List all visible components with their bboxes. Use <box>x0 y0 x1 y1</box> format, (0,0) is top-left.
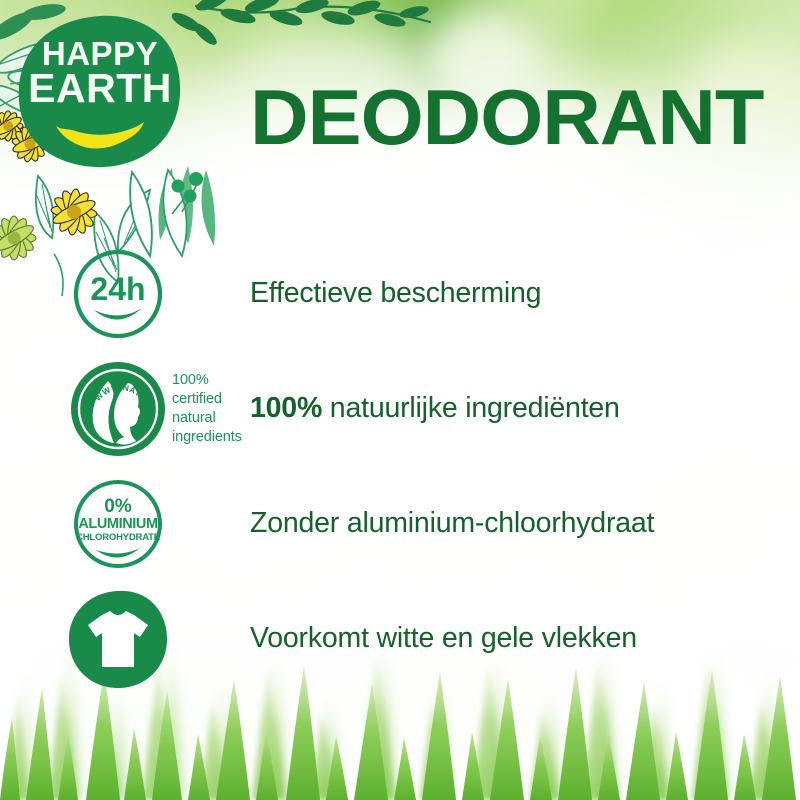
feature-row-natrue: WWW.NATRUE.ORG 100% certified natural in… <box>0 351 800 466</box>
24h-badge-label: 24h <box>90 271 145 307</box>
feature-lead: 100% <box>250 392 322 424</box>
feature-text-natural: 100% natuurlijke ingrediënten <box>250 392 620 425</box>
daisy-3 <box>50 188 97 235</box>
natrue-caption-line: natural <box>172 409 242 428</box>
aluminium-badge-line: CHLOROHYDRATE <box>76 532 160 543</box>
smile-icon <box>94 308 142 320</box>
feature-text-stains: Voorkomt witte en gele vlekken <box>250 622 637 655</box>
feature-row-aluminium: 0% ALUMINIUM CHLOROHYDRATE Zonder alumin… <box>0 466 800 581</box>
natrue-caption-line: 100% <box>172 370 242 389</box>
natrue-caption-line: ingredients <box>172 428 242 447</box>
feature-label: Effectieve bescherming <box>250 277 541 309</box>
product-feature-banner: HAPPY EARTH DEODORANT 24h Effectieve bes… <box>0 0 800 800</box>
natrue-caption-line: certified <box>172 389 242 408</box>
natrue-certification-badge: WWW.NATRUE.ORG <box>68 359 168 459</box>
24h-badge: 24h <box>68 244 168 344</box>
badge-cell: WWW.NATRUE.ORG 100% certified natural in… <box>0 351 250 466</box>
logo-text: HAPPY EARTH <box>14 12 186 172</box>
badge-cell <box>0 581 250 696</box>
smile-icon <box>96 548 140 558</box>
feature-list: 24h Effectieve bescherming <box>0 236 800 696</box>
happy-earth-logo[interactable]: HAPPY EARTH <box>14 12 186 172</box>
aluminium-badge-line: 0% <box>104 496 132 517</box>
natrue-caption: 100% certified natural ingredients <box>172 370 242 447</box>
logo-line-earth: EARTH <box>28 69 172 108</box>
zero-aluminium-badge: 0% ALUMINIUM CHLOROHYDRATE <box>68 474 168 574</box>
no-stains-tshirt-badge <box>68 589 168 689</box>
feature-label: Voorkomt witte en gele vlekken <box>250 622 637 654</box>
feature-text-aluminium: Zonder aluminium-chloorhydraat <box>250 507 654 540</box>
badge-cell: 0% ALUMINIUM CHLOROHYDRATE <box>0 466 250 581</box>
aluminium-badge-line: ALUMINIUM <box>78 516 158 532</box>
feature-label: natuurlijke ingrediënten <box>322 392 620 424</box>
feature-label: Zonder aluminium-chloorhydraat <box>250 507 654 539</box>
badge-cell: 24h <box>0 236 250 351</box>
feature-row-24h: 24h Effectieve bescherming <box>0 236 800 351</box>
feature-text-24h: Effectieve bescherming <box>250 277 541 310</box>
feature-row-stains: Voorkomt witte en gele vlekken <box>0 581 800 696</box>
page-title: DEODORANT <box>250 78 763 156</box>
